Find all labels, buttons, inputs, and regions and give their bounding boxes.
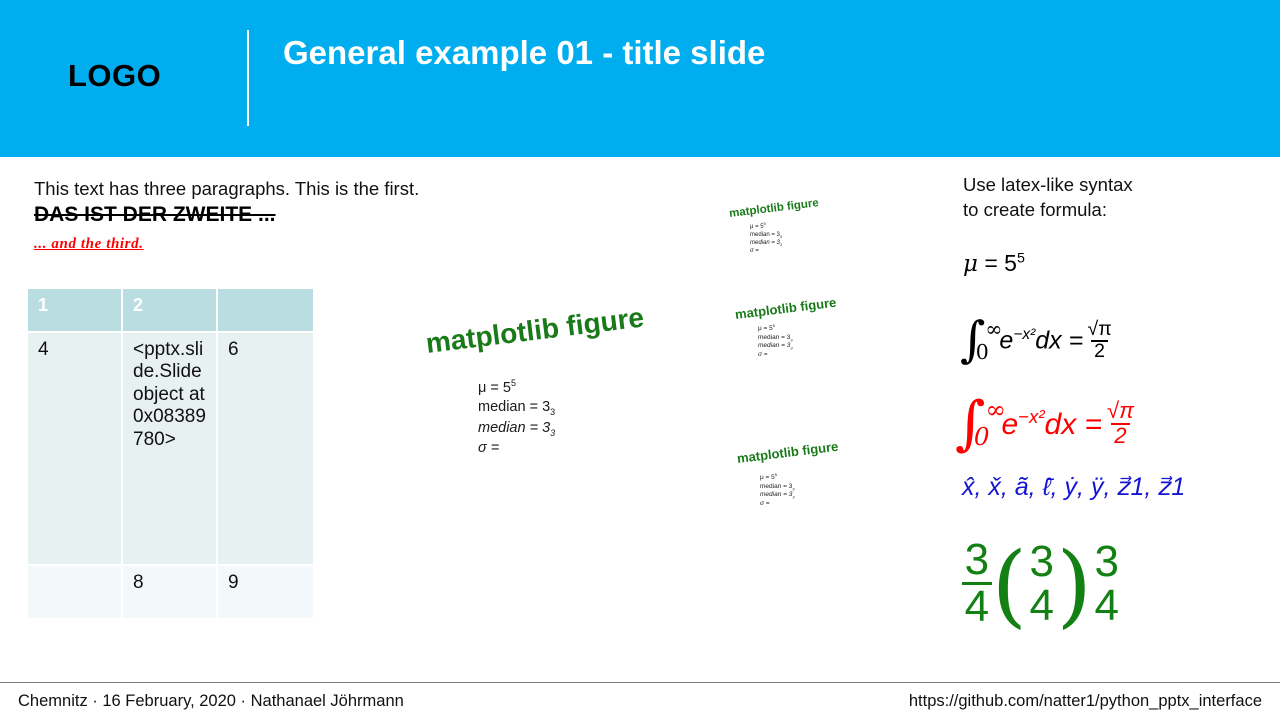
figure-title: matplotlib figure [729,197,820,220]
integral-lower-limit: 0 [976,342,989,362]
table-row: 4 <pptx.slide.Slide object at 0x08389780… [28,333,313,566]
formula-green-fractions: 3 4 ( 3 4 ) 3 4 [962,538,1122,629]
formula-mu-variable: μ [963,251,978,277]
paragraph-second: DAS IST DER ZWEITE ... [34,202,504,227]
formula-mu-exponent: 5 [1017,250,1025,266]
green-binomial: 3 4 [1027,540,1057,628]
figure-line-median-italic: median = 33 [750,240,782,248]
figure-title: matplotlib figure [424,302,646,360]
header-banner: LOGO General example 01 - title slide [0,0,1280,157]
footer-divider [0,682,1280,683]
table-cell: 1 [28,289,123,333]
paren-close: ) [1057,564,1092,607]
figure-formula-lines: μ = 55 median = 33 median = 33 σ = [758,323,793,360]
figure-line-mu: μ = 55 [750,222,782,232]
fraction-denominator: 2 [1091,340,1107,362]
paragraph-first: This text has three paragraphs. This is … [34,178,504,200]
integral-upper-limit: ∞ [985,398,1005,423]
fraction-numerator: √π [1085,320,1115,340]
figure-line-sigma: σ = [758,351,793,360]
figure-line-sigma: σ = [760,500,795,509]
figure-line-median: median = 33 [760,483,795,492]
logo: LOGO [68,58,161,94]
latex-note: Use latex-like syntax to create formula: [963,173,1263,222]
figure-title: matplotlib figure [736,439,839,466]
table-cell [218,289,313,333]
formula-accents: x̂, x̌, ã, ℓ̄, ẏ, ÿ, z⃗1, z⃗1 [962,472,1185,502]
footer-left-text: Chemnitz · 16 February, 2020 · Nathanael… [18,692,404,711]
header-divider [247,30,249,126]
data-table: 1 2 4 <pptx.slide.Slide object at 0x0838… [28,289,313,618]
integral-lower-limit: 0 [974,425,990,450]
fraction-denominator: 2 [1111,423,1130,448]
figure-line-median-italic: median = 33 [758,342,793,351]
matplotlib-figure-small-3: matplotlib figure μ = 55 median = 33 med… [730,428,910,543]
latex-note-line-1: Use latex-like syntax [963,173,1263,198]
table-cell: 6 [218,333,313,566]
figure-formula-lines: μ = 55 median = 33 median = 33 σ = [478,378,555,459]
figure-line-median: median = 33 [750,232,782,240]
figure-title: matplotlib figure [734,295,837,322]
paren-open: ( [992,564,1027,607]
matplotlib-figure-small-1: matplotlib figure μ = 55 median = 33 med… [720,188,890,268]
figure-line-median-italic: median = 33 [760,491,795,500]
figure-formula-lines: μ = 55 median = 33 median = 33 σ = [750,222,782,256]
table-row: 8 9 [28,566,313,618]
formula-integral-red: ∫ ∞ 0 e−x²dx = √π 2 [955,400,1139,451]
page-title: General example 01 - title slide [283,34,765,72]
figure-line-mu: μ = 55 [760,472,795,483]
figure-line-sigma: σ = [750,248,782,256]
table-cell [28,566,123,618]
formula-integral-black: ∫ ∞ 0 e−x²dx = √π 2 [960,320,1116,363]
slide-canvas: LOGO General example 01 - title slide Th… [0,0,1280,720]
integral-fraction: √π 2 [1104,400,1137,447]
integral-upper-limit: ∞ [985,319,1002,339]
integral-body: e−x²dx = [1001,406,1102,442]
paragraph-third: ... and the third. [34,236,504,253]
integral-sign: ∫ ∞ 0 [955,400,985,447]
green-fraction-first: 3 4 [962,538,992,629]
integral-fraction: √π 2 [1085,320,1115,362]
formula-mu-equals: = 5 [984,250,1017,276]
table-cell: <pptx.slide.Slide object at 0x08389780> [123,333,218,566]
table-row-header: 1 2 [28,289,313,333]
integral-body: e−x²dx = [999,326,1083,355]
formula-mu: μ = 55 [963,250,1025,277]
figure-formula-lines: μ = 55 median = 33 median = 33 σ = [760,472,795,509]
table-cell: 9 [218,566,313,618]
figure-line-median: median = 33 [478,398,555,419]
fraction-numerator: √π [1104,400,1137,423]
figure-line-median-italic: median = 33 [478,419,555,440]
text-block: This text has three paragraphs. This is … [34,178,504,253]
matplotlib-figure-small-2: matplotlib figure μ = 55 median = 33 med… [726,285,906,375]
matplotlib-figure-large: matplotlib figure μ = 55 median = 33 med… [418,290,718,480]
figure-line-mu: μ = 55 [478,378,555,398]
figure-line-median: median = 33 [758,334,793,343]
figure-line-sigma: σ = [478,439,555,458]
integral-sign: ∫ ∞ 0 [960,321,985,360]
green-stack-last: 3 4 [1092,540,1122,628]
table-cell: 8 [123,566,218,618]
footer-right-text: https://github.com/natter1/python_pptx_i… [909,692,1262,711]
figure-line-mu: μ = 55 [758,323,793,334]
latex-note-line-2: to create formula: [963,198,1263,223]
table-cell: 2 [123,289,218,333]
table-cell: 4 [28,333,123,566]
